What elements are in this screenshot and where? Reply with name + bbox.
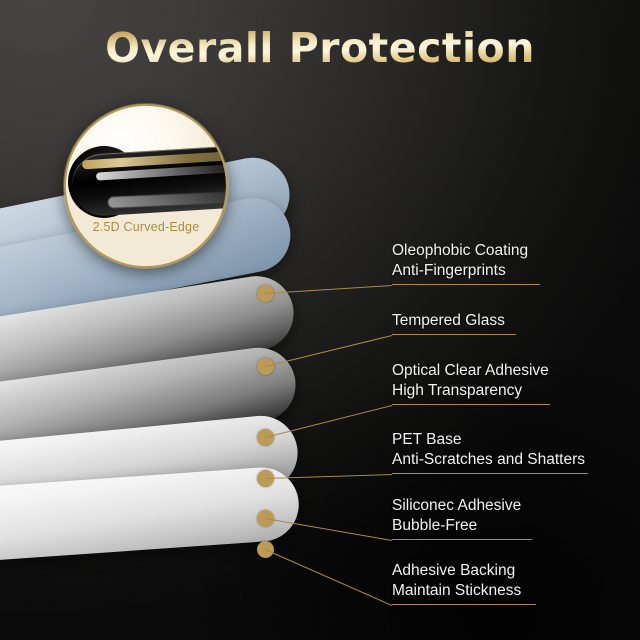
callout-underline <box>392 539 532 540</box>
callout-underline <box>392 473 588 474</box>
callout-optical-clear-adhesive: Optical Clear AdhesiveHigh Transparency <box>392 361 550 405</box>
layer-stack <box>0 240 360 620</box>
callout-label-line: Bubble-Free <box>392 516 532 536</box>
callout-siliconec-adhesive: Siliconec AdhesiveBubble-Free <box>392 496 532 540</box>
callout-label-line: Siliconec Adhesive <box>392 496 532 516</box>
curved-edge-magnifier: 2.5D Curved-Edge <box>64 104 228 268</box>
callout-pet-base: PET BaseAnti-Scratches and Shatters <box>392 430 588 474</box>
callout-underline <box>392 334 516 335</box>
callout-adhesive-backing: Adhesive BackingMaintain Stickness <box>392 561 536 605</box>
callout-label-line: Anti-Scratches and Shatters <box>392 450 588 470</box>
callout-label-line: Optical Clear Adhesive <box>392 361 550 381</box>
callout-label-line: High Transparency <box>392 381 550 401</box>
callout-label-line: PET Base <box>392 430 588 450</box>
callout-label-line: Anti-Fingerprints <box>392 261 540 281</box>
magnifier-caption: 2.5D Curved-Edge <box>66 220 226 234</box>
callout-tempered-glass: Tempered Glass <box>392 311 516 335</box>
layer-adhesive-backing <box>0 465 301 578</box>
callout-oleophobic-coating: Oleophobic CoatingAnti-Fingerprints <box>392 241 540 285</box>
callout-underline <box>392 284 540 285</box>
callout-label-line: Oleophobic Coating <box>392 241 540 261</box>
callout-underline <box>392 404 550 405</box>
infographic-root: 2.5D Curved-Edge Overall Protection Oleo… <box>0 0 640 640</box>
callout-label-line: Adhesive Backing <box>392 561 536 581</box>
callout-label-line: Maintain Stickness <box>392 581 536 601</box>
callout-label-line: Tempered Glass <box>392 311 516 331</box>
page-title: Overall Protection <box>0 24 640 72</box>
callout-underline <box>392 604 536 605</box>
